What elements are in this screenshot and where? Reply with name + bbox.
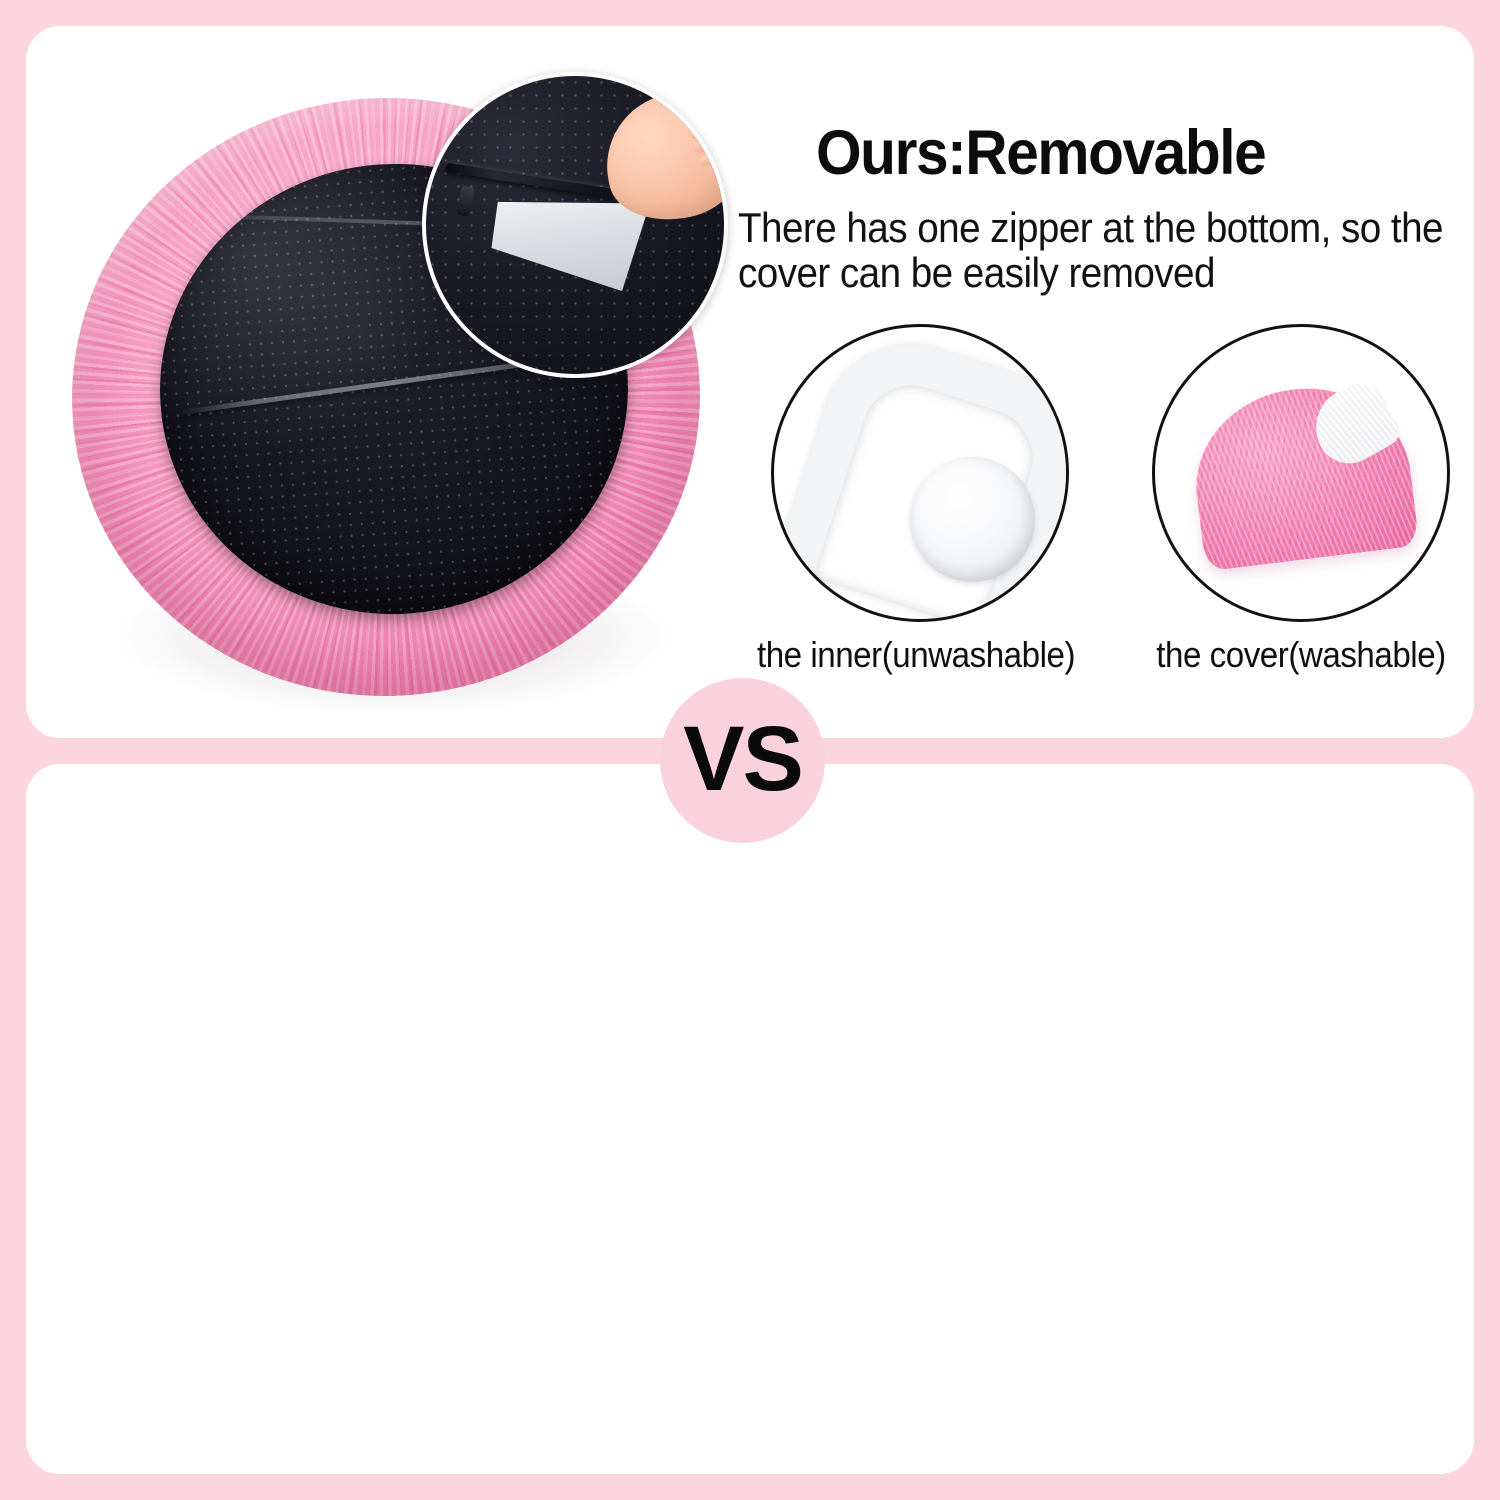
cover-white-lining — [1302, 374, 1405, 475]
vs-badge: VS — [660, 678, 825, 843]
inner-insert-thumbnail — [771, 324, 1069, 622]
inner-insert-caption: the inner(unwashable) — [732, 634, 1100, 676]
vs-label: VS — [683, 713, 802, 805]
round-cushion-pad — [910, 457, 1035, 582]
infographic-canvas: Ours:Removable There has one zipper at t… — [0, 0, 1500, 1500]
folded-pink-cover — [1185, 377, 1419, 572]
zipper-closeup-inset — [422, 72, 728, 378]
finger — [697, 152, 718, 167]
removable-cover-caption: the cover(washable) — [1117, 634, 1474, 676]
ours-heading: Ours:Removable — [816, 121, 1265, 185]
u-shaped-bolster-insert — [775, 324, 1069, 622]
ours-panel: Ours:Removable There has one zipper at t… — [26, 26, 1474, 738]
removable-cover-thumbnail — [1152, 324, 1450, 622]
ours-description: There has one zipper at the bottom, so t… — [738, 206, 1474, 296]
others-panel: Others:Unremovable There has no zipper a… — [26, 764, 1474, 1474]
